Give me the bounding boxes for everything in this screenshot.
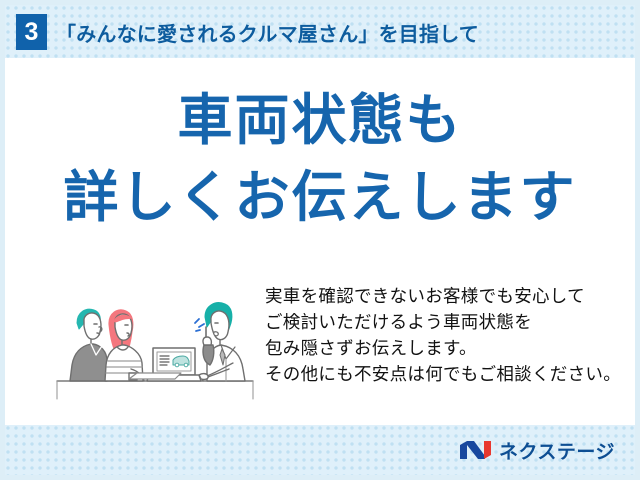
- headline-line-2: 詳しくお伝えします: [5, 170, 635, 225]
- brand-wordmark: ネクステージ: [499, 437, 615, 464]
- consultation-illustration-svg: [55, 277, 255, 402]
- header-title: 「みんなに愛されるクルマ屋さん」を目指して: [56, 18, 479, 47]
- body-line-1: 実車を確認できないお客様でも安心して: [265, 283, 625, 309]
- headline-line-1: 車両状態も: [5, 93, 635, 148]
- body-line-2: ご検討いただけるよう車両状態を: [265, 309, 625, 335]
- body-copy: 実車を確認できないお客様でも安心して ご検討いただけるよう車両状態を 包み隠さず…: [265, 283, 625, 387]
- body-line-4: その他にも不安点は何でもご相談ください。: [265, 361, 625, 387]
- content-row: 実車を確認できないお客様でも安心して ご検討いただけるよう車両状態を 包み隠さず…: [5, 277, 635, 407]
- nexstage-n-logo-icon: [459, 439, 492, 461]
- promo-poster: 3 「みんなに愛されるクルマ屋さん」を目指して 車両状態も 詳しくお伝えします: [0, 0, 640, 480]
- header-step-badge: 3: [16, 14, 47, 50]
- brand-logo: ネクステージ: [459, 437, 615, 463]
- body-line-3: 包み隠さずお伝えします。: [265, 335, 625, 361]
- consultation-illustration: [55, 277, 255, 402]
- headline-block: 車両状態も 詳しくお伝えします: [5, 93, 635, 225]
